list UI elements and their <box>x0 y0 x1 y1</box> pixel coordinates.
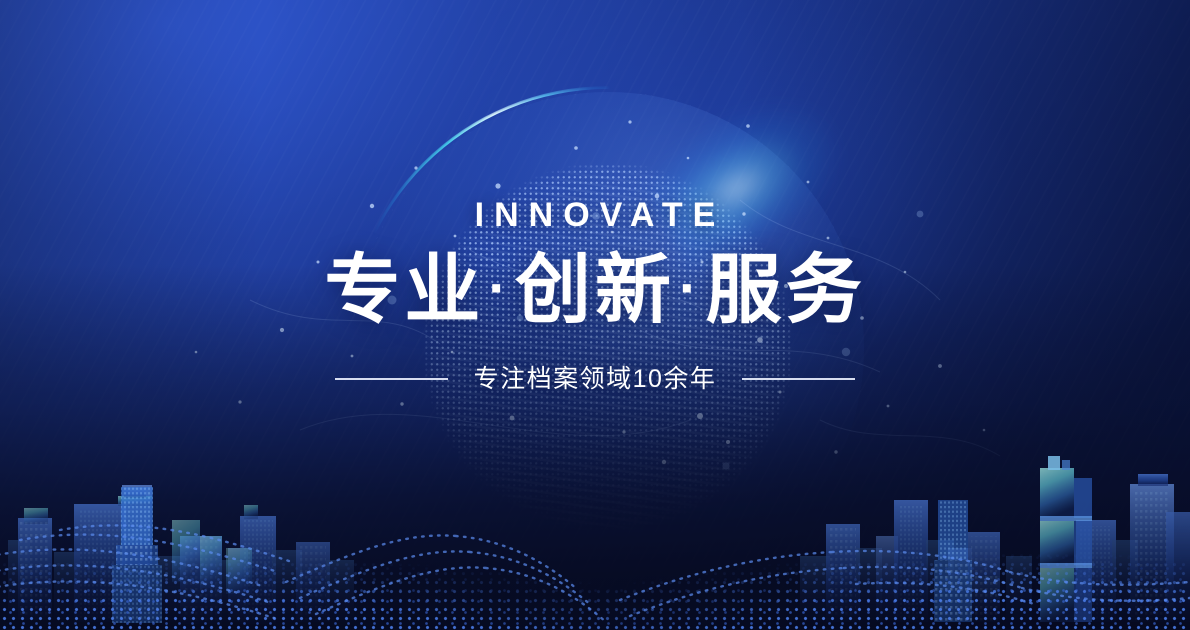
subtitle-row: 专注档案领域10余年 <box>0 362 1190 396</box>
decorative-rule-left <box>335 378 448 380</box>
headline-separator-1: · <box>484 256 515 319</box>
skyline-right-tower <box>1040 456 1092 622</box>
headline-text: 专业·创新·服务 <box>0 242 1190 337</box>
subtitle-text: 专注档案领域10余年 <box>474 362 717 396</box>
headline-part-2: 创新 <box>515 248 675 333</box>
headline-separator-2: · <box>675 256 706 319</box>
skyline-right-lit-tower <box>934 500 972 622</box>
decorative-rule-right <box>742 378 855 380</box>
kicker-text: INNOVATE <box>0 194 1190 236</box>
headline-part-3: 服务 <box>706 248 866 333</box>
skyline-left-lit-cluster <box>172 520 252 594</box>
globe-graphic <box>352 92 864 604</box>
hero-banner: INNOVATE 专业·创新·服务 专注档案领域10余年 <box>0 0 1190 630</box>
skyline-left-tower <box>112 487 162 623</box>
skyline-left-group <box>8 485 354 625</box>
headline-part-1: 专业 <box>324 248 484 333</box>
